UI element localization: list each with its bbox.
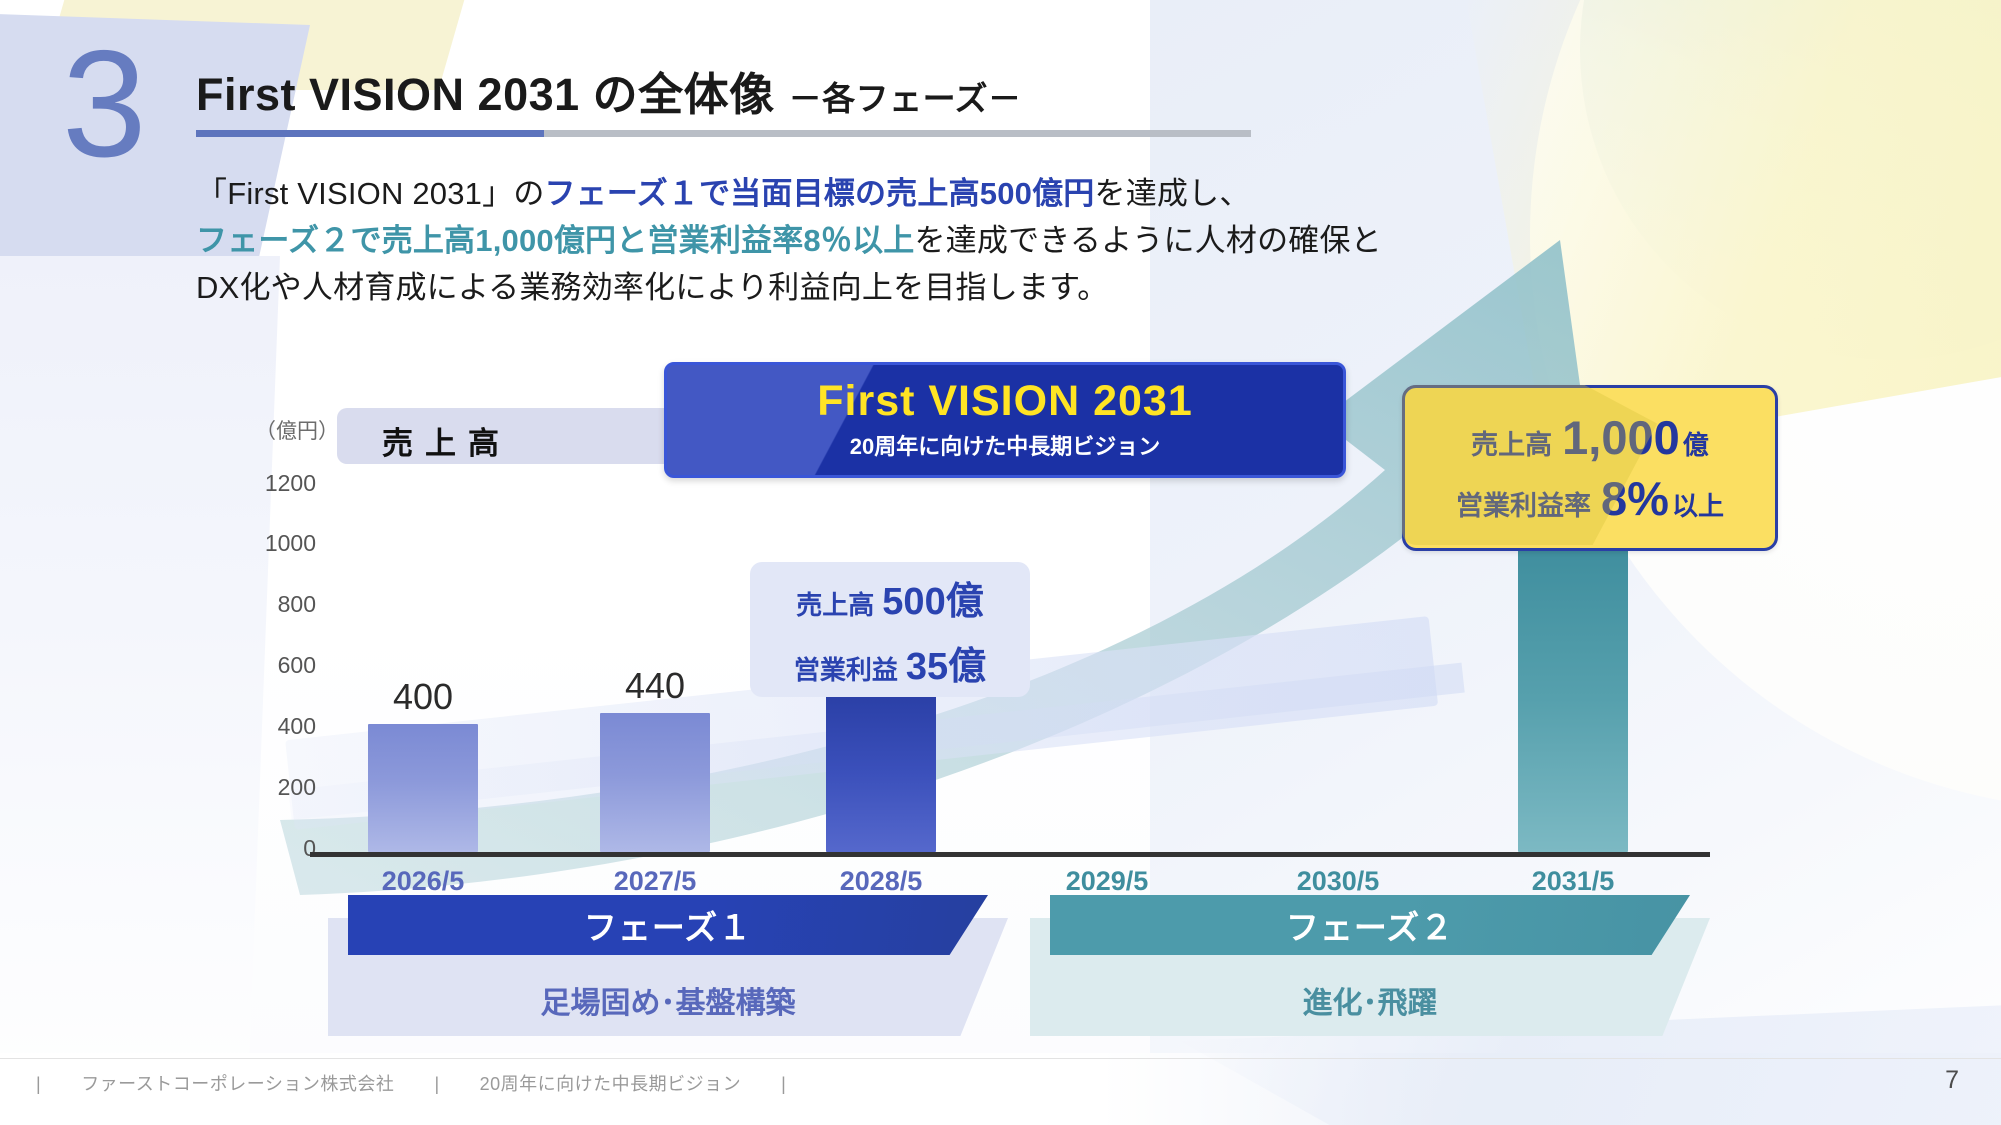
footer-company: ファーストコーポレーション株式会社	[81, 1074, 394, 1094]
phase2-label: フェーズ２	[1286, 901, 1454, 949]
y-axis-tick: 1200	[230, 470, 316, 497]
goal-phase1-sales-label: 売上高	[796, 590, 874, 620]
phase2-caption: 進化･飛躍	[1040, 978, 1700, 1022]
phase1-caption: 足場固め･基盤構築	[338, 978, 998, 1022]
goal-phase1-sales-value: 500億	[882, 581, 983, 623]
y-axis-unit-label: （億円）	[255, 415, 339, 445]
legend-label: 売上高	[382, 418, 511, 463]
goal-phase2-margin-unit: 以上	[1672, 486, 1724, 523]
bar-2027	[600, 713, 710, 852]
footer-doc: 20周年に向けた中長期ビジョン	[480, 1074, 742, 1094]
vision-subtitle: 20周年に向けた中長期ビジョン	[850, 429, 1160, 461]
goal-phase2-callout: 売上高1,000億 営業利益率8%以上	[1402, 385, 1778, 551]
goal-phase2-sales-label: 売上高	[1471, 423, 1552, 462]
y-axis-tick: 1000	[230, 530, 316, 557]
footer: |ファーストコーポレーション株式会社|20周年に向けた中長期ビジョン|	[36, 1070, 786, 1096]
x-axis-tick-2030: 2030/5	[1248, 866, 1428, 897]
x-axis-line	[310, 852, 1710, 857]
bar-value-2026: 400	[333, 676, 513, 718]
page-number: 7	[1945, 1066, 1959, 1095]
vision-title: First VISION 2031	[817, 379, 1193, 425]
footer-sep-2: |	[434, 1074, 439, 1094]
x-axis-tick-2029: 2029/5	[1017, 866, 1197, 897]
goal-phase2-sales-unit: 億	[1683, 425, 1709, 462]
footer-divider	[0, 1058, 2001, 1059]
x-axis-tick-2027: 2027/5	[565, 866, 745, 897]
y-axis-tick: 0	[230, 835, 316, 862]
goal-phase1-callout: 売上高500億 営業利益35億	[750, 562, 1030, 697]
goal-phase1-profit-label: 営業利益	[794, 655, 898, 685]
bar-2028	[826, 693, 936, 852]
y-axis-tick: 200	[230, 774, 316, 801]
goal-phase1-profit-row: 営業利益35億	[794, 635, 986, 690]
y-axis-tick: 400	[230, 713, 316, 740]
goal-phase2-margin-row: 営業利益率8%以上	[1456, 471, 1724, 526]
bar-value-2027: 440	[565, 665, 745, 707]
goal-phase1-profit-value: 35億	[906, 646, 986, 688]
goal-phase2-sales-row: 売上高1,000億	[1471, 410, 1709, 465]
footer-sep-1: |	[36, 1074, 41, 1094]
x-axis-tick-2028: 2028/5	[791, 866, 971, 897]
x-axis-tick-2026: 2026/5	[333, 866, 513, 897]
phase1-label: フェーズ１	[584, 901, 752, 949]
phase1-banner: フェーズ１	[348, 895, 988, 955]
goal-phase1-sales-row: 売上高500億	[796, 570, 983, 625]
goal-phase2-margin-value: 8%	[1601, 471, 1669, 526]
goal-phase2-margin-label: 営業利益率	[1456, 484, 1591, 523]
vision-callout: First VISION 2031 20周年に向けた中長期ビジョン	[664, 362, 1346, 478]
phase2-banner: フェーズ２	[1050, 895, 1690, 955]
bar-2031	[1518, 545, 1628, 852]
y-axis-tick: 600	[230, 652, 316, 679]
goal-phase2-sales-value: 1,000	[1562, 410, 1680, 465]
y-axis-tick: 800	[230, 591, 316, 618]
x-axis-tick-2031: 2031/5	[1483, 866, 1663, 897]
footer-sep-3: |	[781, 1074, 786, 1094]
bar-2026	[368, 724, 478, 852]
